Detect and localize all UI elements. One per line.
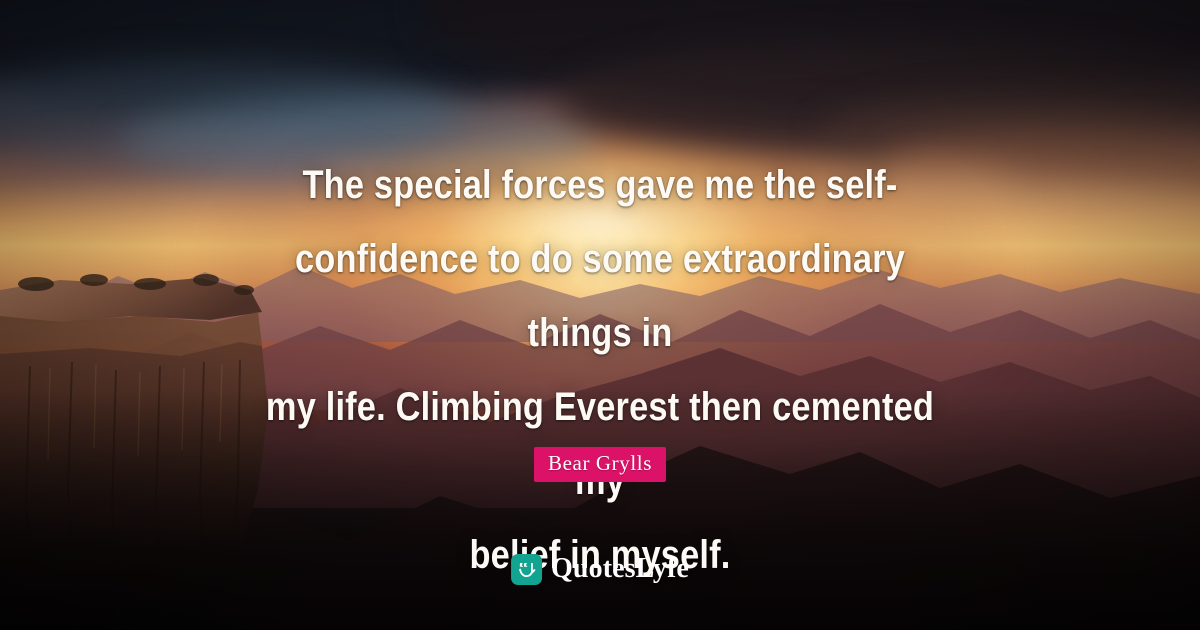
quote-card: The special forces gave me the self- con… [0,0,1200,630]
author-badge[interactable]: Bear Grylls [534,447,666,482]
quote-block: The special forces gave me the self- con… [200,148,1000,592]
brand-name: QuotesLyfe [551,553,689,585]
quote-text: The special forces gave me the self- con… [256,148,944,592]
brand-logo[interactable]: QuotesLyfe [511,553,689,585]
card-content: The special forces gave me the self- con… [0,0,1200,630]
author-name: Bear Grylls [548,451,652,475]
quote-smiley-icon [511,554,542,585]
